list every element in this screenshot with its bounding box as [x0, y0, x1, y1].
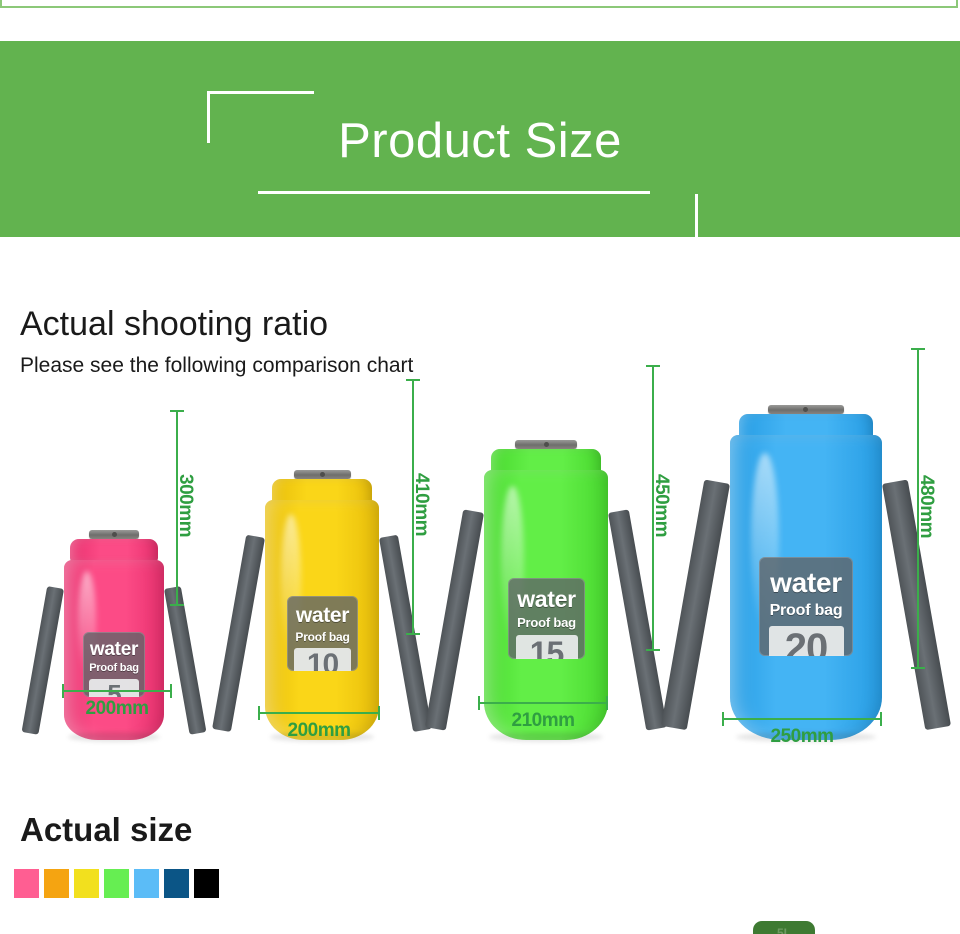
height-dimension-label-10l: 410mm [410, 473, 432, 536]
shoulder-strap-l [425, 510, 484, 732]
height-dimension-label-20l: 480mm [915, 475, 937, 538]
banner-bracket-bottom-right-vertical [695, 194, 698, 237]
label-brand-line1: water [759, 569, 853, 597]
bag-brand-label: waterProof bag10 [287, 596, 358, 671]
label-brand-line1: water [508, 588, 585, 611]
label-capacity-box: 10 [294, 648, 351, 671]
label-capacity-value: 20 [785, 628, 828, 656]
shoulder-strap-l [22, 586, 64, 734]
bag-item-20l: waterProof bag20 [730, 395, 882, 740]
width-dimension-label-10l: 200mm [258, 720, 380, 742]
color-swatch-orange[interactable] [44, 869, 69, 898]
roll-top [70, 539, 158, 562]
buckle-clip [768, 405, 844, 414]
color-swatch-sky-blue[interactable] [134, 869, 159, 898]
bag-comparison-stage: waterProof bag5300mm200mmwaterProof bag1… [0, 380, 960, 740]
label-capacity-box: 5 [89, 679, 139, 697]
label-brand-line2: Proof bag [83, 663, 145, 674]
actual-size-heading: Actual size [20, 809, 192, 851]
bag-item-10l: waterProof bag10 [265, 460, 379, 740]
buckle-clip [89, 530, 139, 539]
width-dimension-line-10l [258, 712, 380, 714]
label-capacity-box: 15 [516, 635, 578, 659]
buckle-clip [294, 470, 351, 479]
color-swatch-pink[interactable] [14, 869, 39, 898]
label-brand-line2: Proof bag [759, 603, 853, 619]
banner-title: Product Size [0, 113, 960, 169]
product-size-page: Product Size Actual shooting ratio Pleas… [0, 0, 960, 934]
label-capacity-box: 20 [769, 626, 844, 656]
height-dimension-label-5l: 300mm [174, 474, 196, 537]
label-capacity-value: 10 [307, 650, 338, 672]
width-dimension-label-5l: 200mm [62, 698, 172, 720]
shoulder-strap-l [212, 535, 265, 732]
bag-ground-shadow [68, 732, 160, 742]
color-swatch-yellow[interactable] [74, 869, 99, 898]
color-swatch-green[interactable] [104, 869, 129, 898]
bag-body: waterProof bag10 [265, 500, 379, 740]
width-dimension-label-15l: 210mm [478, 710, 608, 732]
banner-title-underline [258, 191, 650, 194]
bag-illustration: waterProof bag20 [730, 401, 882, 740]
shooting-ratio-heading: Actual shooting ratio [20, 303, 328, 345]
width-dimension-line-5l [62, 690, 172, 692]
product-size-banner: Product Size [0, 41, 960, 237]
buckle-clip [515, 440, 577, 449]
label-brand-line1: water [83, 640, 145, 659]
top-border-strip [0, 0, 958, 8]
label-brand-line1: water [287, 605, 358, 626]
color-swatch-black[interactable] [194, 869, 219, 898]
width-dimension-line-15l [478, 702, 608, 704]
bag-brand-label: waterProof bag5 [83, 632, 145, 697]
label-capacity-value: 5 [107, 681, 120, 698]
bag-item-15l: waterProof bag15 [484, 430, 608, 740]
shooting-ratio-subheading: Please see the following comparison char… [20, 352, 413, 380]
color-swatch-dark-blue[interactable] [164, 869, 189, 898]
label-brand-line2: Proof bag [508, 616, 585, 629]
bottom-capacity-badge: 5L [753, 921, 815, 934]
bag-illustration: waterProof bag15 [484, 436, 608, 740]
bag-brand-label: waterProof bag20 [759, 557, 853, 656]
bag-illustration: waterProof bag10 [265, 466, 379, 740]
bag-body: waterProof bag20 [730, 435, 882, 740]
color-swatch-list [14, 869, 219, 898]
width-dimension-label-20l: 250mm [722, 726, 882, 748]
label-brand-line2: Proof bag [287, 631, 358, 643]
shoulder-strap-r [608, 510, 667, 732]
bag-brand-label: waterProof bag15 [508, 578, 585, 659]
width-dimension-line-20l [722, 718, 882, 720]
height-dimension-label-15l: 450mm [650, 474, 672, 537]
banner-bracket-top-left-horizontal [207, 91, 314, 94]
label-capacity-value: 15 [530, 637, 564, 659]
bag-body: waterProof bag15 [484, 470, 608, 740]
bag-ground-shadow [489, 732, 603, 742]
